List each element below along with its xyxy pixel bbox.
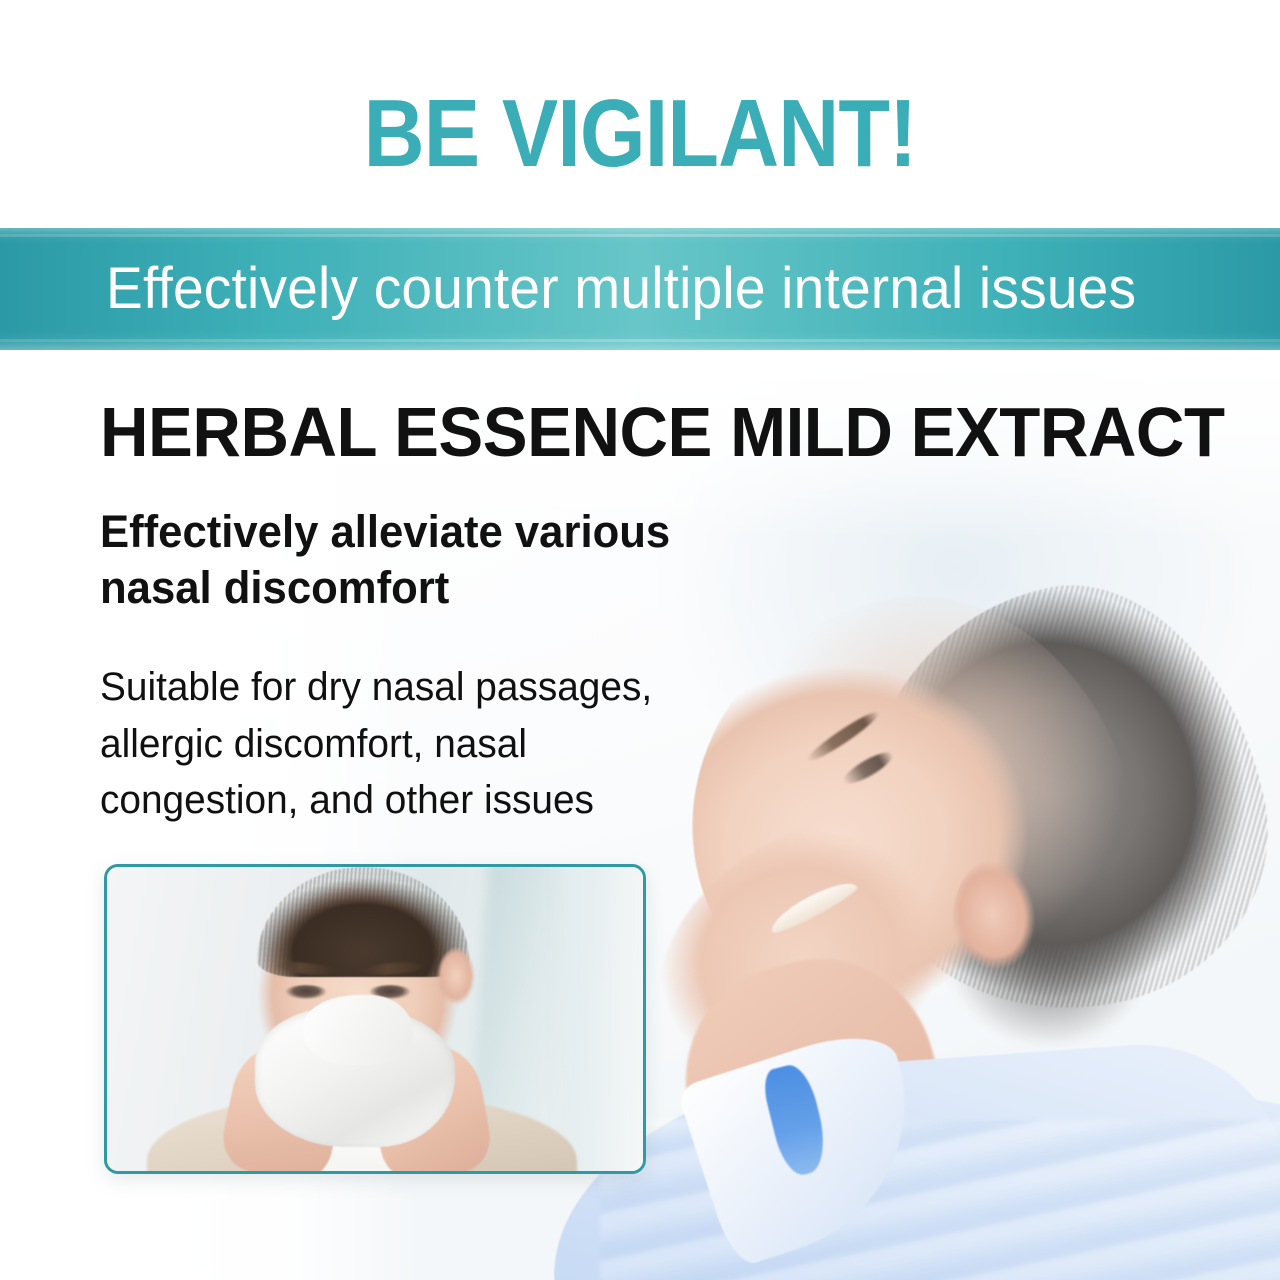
details-line-2: allergic discomfort, nasal: [100, 716, 740, 773]
inset-curtain-secondary: [562, 864, 646, 1174]
tagline-banner: Effectively counter multiple internal is…: [0, 228, 1280, 350]
poster-root: BE VIGILANT! Effectively counter multipl…: [0, 0, 1280, 1280]
benefit-heading: Effectively alleviate various nasal disc…: [100, 504, 779, 617]
copy-block: HERBAL ESSENCE MILD EXTRACT Effectively …: [100, 396, 1190, 829]
banner-tagline-text: Effectively counter multiple internal is…: [106, 260, 1136, 318]
banner-highlight-top: [0, 234, 1280, 237]
details-line-1: Suitable for dry nasal passages,: [100, 659, 740, 716]
banner-highlight-bottom: [0, 339, 1280, 342]
details-line-3: congestion, and other issues: [100, 772, 740, 829]
page-title: BE VIGILANT!: [77, 86, 1203, 182]
inset-ear: [437, 947, 479, 1011]
details-paragraph: Suitable for dry nasal passages, allergi…: [100, 659, 740, 829]
inset-eye-left: [285, 985, 327, 999]
benefit-line-2: nasal discomfort: [100, 560, 779, 617]
inset-photo: [104, 864, 646, 1174]
product-name: HERBAL ESSENCE MILD EXTRACT: [100, 396, 1146, 470]
benefit-line-1: Effectively alleviate various: [100, 504, 779, 561]
inset-tissue-fold: [303, 995, 413, 1065]
